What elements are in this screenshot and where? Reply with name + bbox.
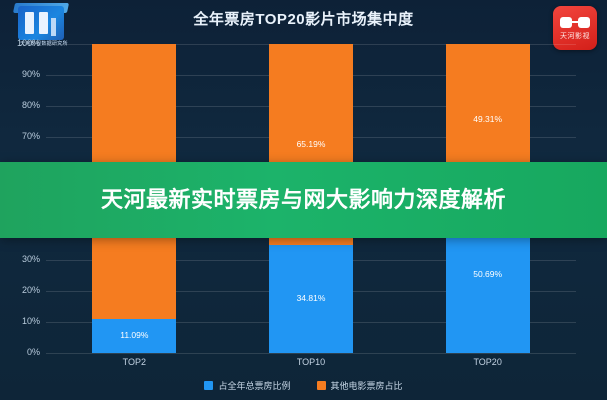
legend-item[interactable]: 占全年总票房比例 (204, 379, 290, 392)
x-axis-tick-label: TOP10 (269, 357, 353, 367)
gridline (46, 353, 576, 354)
y-axis-tick-label: 10% (0, 316, 40, 326)
bar-segment: 34.81% (269, 245, 353, 353)
y-axis-tick-label: 100% (0, 38, 40, 48)
y-axis-tick-label: 80% (0, 100, 40, 110)
y-axis-tick-label: 90% (0, 69, 40, 79)
bar-value-label: 49.31% (446, 114, 530, 124)
overlay-banner: 天河最新实时票房与网大影响力深度解析 (0, 162, 607, 238)
bar-value-label: 50.69% (446, 269, 530, 279)
screenshot-root: 天河影视数据研究所 天河影视 全年票房TOP20影片市场集中度 0%10%20%… (0, 0, 607, 400)
chart-title: 全年票房TOP20影片市场集中度 (0, 8, 607, 29)
y-axis-tick-label: 20% (0, 285, 40, 295)
x-axis-tick-label: TOP20 (446, 357, 530, 367)
bar-value-label: 65.19% (269, 139, 353, 149)
bar-value-label: 11.09% (92, 330, 176, 340)
y-axis-tick-label: 0% (0, 347, 40, 357)
chart-legend: 占全年总票房比例其他电影票房占比 (0, 379, 607, 392)
overlay-banner-text: 天河最新实时票房与网大影响力深度解析 (79, 185, 528, 215)
legend-item[interactable]: 其他电影票房占比 (317, 379, 403, 392)
y-axis-tick-label: 70% (0, 131, 40, 141)
bar-value-label: 34.81% (269, 293, 353, 303)
legend-label: 其他电影票房占比 (331, 379, 403, 392)
legend-swatch (204, 381, 213, 390)
legend-swatch (317, 381, 326, 390)
x-axis-tick-label: TOP2 (92, 357, 176, 367)
bar-segment: 11.09% (92, 319, 176, 353)
badge-caption: 天河影视 (553, 31, 597, 41)
y-axis-tick-label: 30% (0, 254, 40, 264)
legend-label: 占全年总票房比例 (218, 379, 290, 392)
